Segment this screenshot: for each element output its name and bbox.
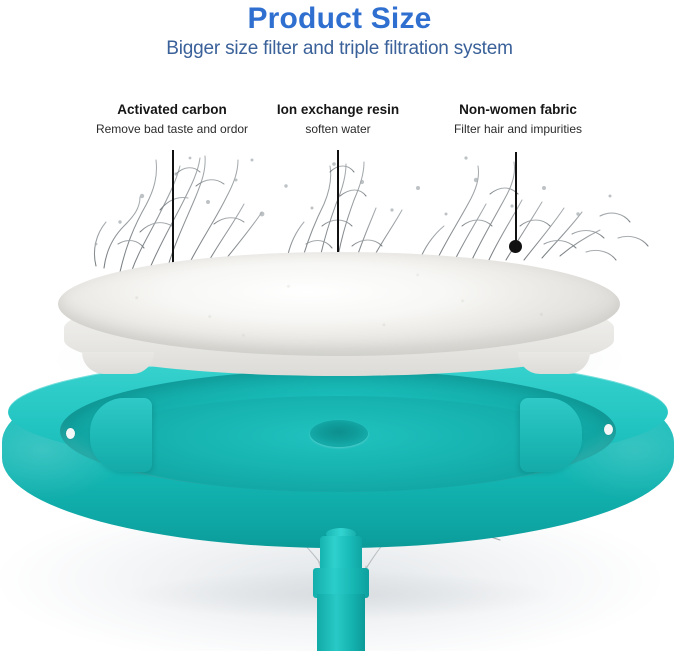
leader-line-activated-carbon: [172, 150, 174, 268]
page-subtitle: Bigger size filter and triple filtration…: [0, 38, 679, 60]
infographic-canvas: Product Size Bigger size filter and trip…: [0, 0, 679, 651]
callout-activated-carbon: Activated carbon Remove bad taste and or…: [72, 102, 272, 137]
callout-description-activated-carbon: Remove bad taste and ordor: [72, 121, 272, 137]
pump-column-upper: [320, 536, 362, 572]
filter-pad-texture: [58, 252, 620, 356]
callout-description-ion-exchange-resin: soften water: [262, 121, 414, 137]
page-title: Product Size: [0, 2, 679, 36]
bowl-tab-left: [90, 398, 152, 472]
callout-title-activated-carbon: Activated carbon: [72, 102, 272, 118]
drain-hole: [310, 420, 368, 447]
bowl-tab-right: [520, 398, 582, 472]
pump-column: [300, 536, 382, 651]
callout-title-ion-exchange-resin: Ion exchange resin: [262, 102, 414, 118]
pad-notch-right: [518, 352, 590, 374]
callout-title-non-women-fabric: Non-women fabric: [432, 102, 604, 118]
pad-notch-left: [82, 352, 154, 374]
callout-ion-exchange-resin: Ion exchange resin soften water: [262, 102, 414, 137]
bowl-pinhole-left: [66, 428, 75, 439]
leader-line-non-women-fabric: [515, 152, 517, 245]
bowl-pinhole-right: [604, 424, 613, 435]
callout-non-women-fabric: Non-women fabric Filter hair and impurit…: [432, 102, 604, 137]
pump-column-lower: [317, 594, 365, 651]
callout-description-non-women-fabric: Filter hair and impurities: [432, 121, 604, 137]
